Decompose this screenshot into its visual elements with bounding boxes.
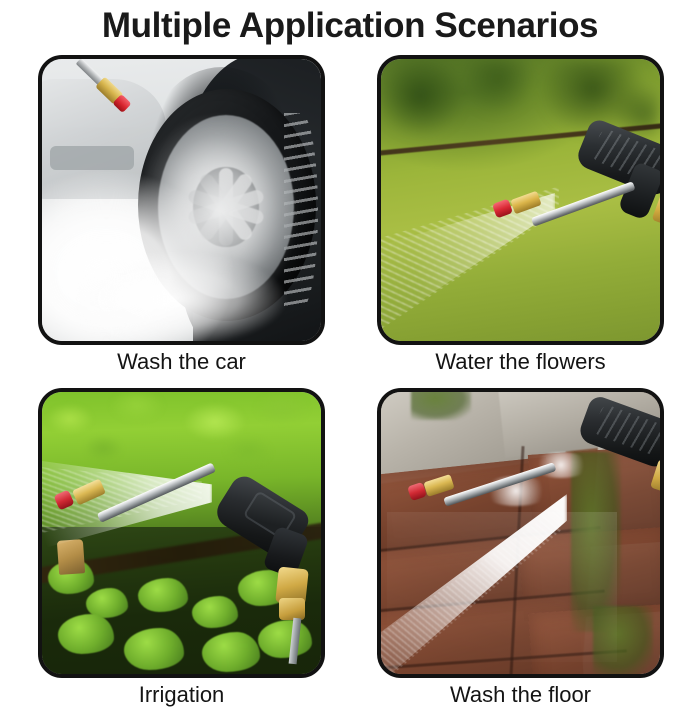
scenario-card-wash-the-floor[interactable]: Wash the floor — [377, 388, 664, 678]
photo-frame-irrigation — [38, 388, 325, 678]
scenario-grid: Wash the car Water the flowers — [38, 55, 664, 695]
scenario-card-irrigation[interactable]: Irrigation — [38, 388, 325, 678]
spray-gun — [536, 408, 660, 518]
garden-plant — [58, 614, 114, 654]
wooden-stake — [57, 539, 85, 575]
scenario-caption-wash-the-car: Wash the car — [38, 347, 325, 377]
scenario-caption-water-the-flowers: Water the flowers — [377, 347, 664, 377]
spray-gun — [520, 133, 660, 253]
moss-growth — [411, 392, 471, 420]
spray-gun — [161, 466, 311, 656]
photo-irrigation — [42, 392, 321, 674]
photo-wash-the-floor — [381, 392, 660, 674]
photo-water-the-flowers — [381, 59, 660, 341]
scenario-card-wash-the-car[interactable]: Wash the car — [38, 55, 325, 345]
photo-frame-wash-the-car — [38, 55, 325, 345]
water-mist-ground — [76, 249, 316, 341]
page-title: Multiple Application Scenarios — [0, 4, 700, 48]
photo-frame-wash-the-floor — [377, 388, 664, 678]
photo-wash-the-car — [42, 59, 321, 341]
scenario-caption-irrigation: Irrigation — [38, 680, 325, 710]
nozzle-brass-collar — [510, 191, 541, 215]
scenario-caption-wash-the-floor: Wash the floor — [377, 680, 664, 710]
photo-frame-water-the-flowers — [377, 55, 664, 345]
scenario-card-water-the-flowers[interactable]: Water the flowers — [377, 55, 664, 345]
hose-quick-connector — [279, 598, 305, 620]
